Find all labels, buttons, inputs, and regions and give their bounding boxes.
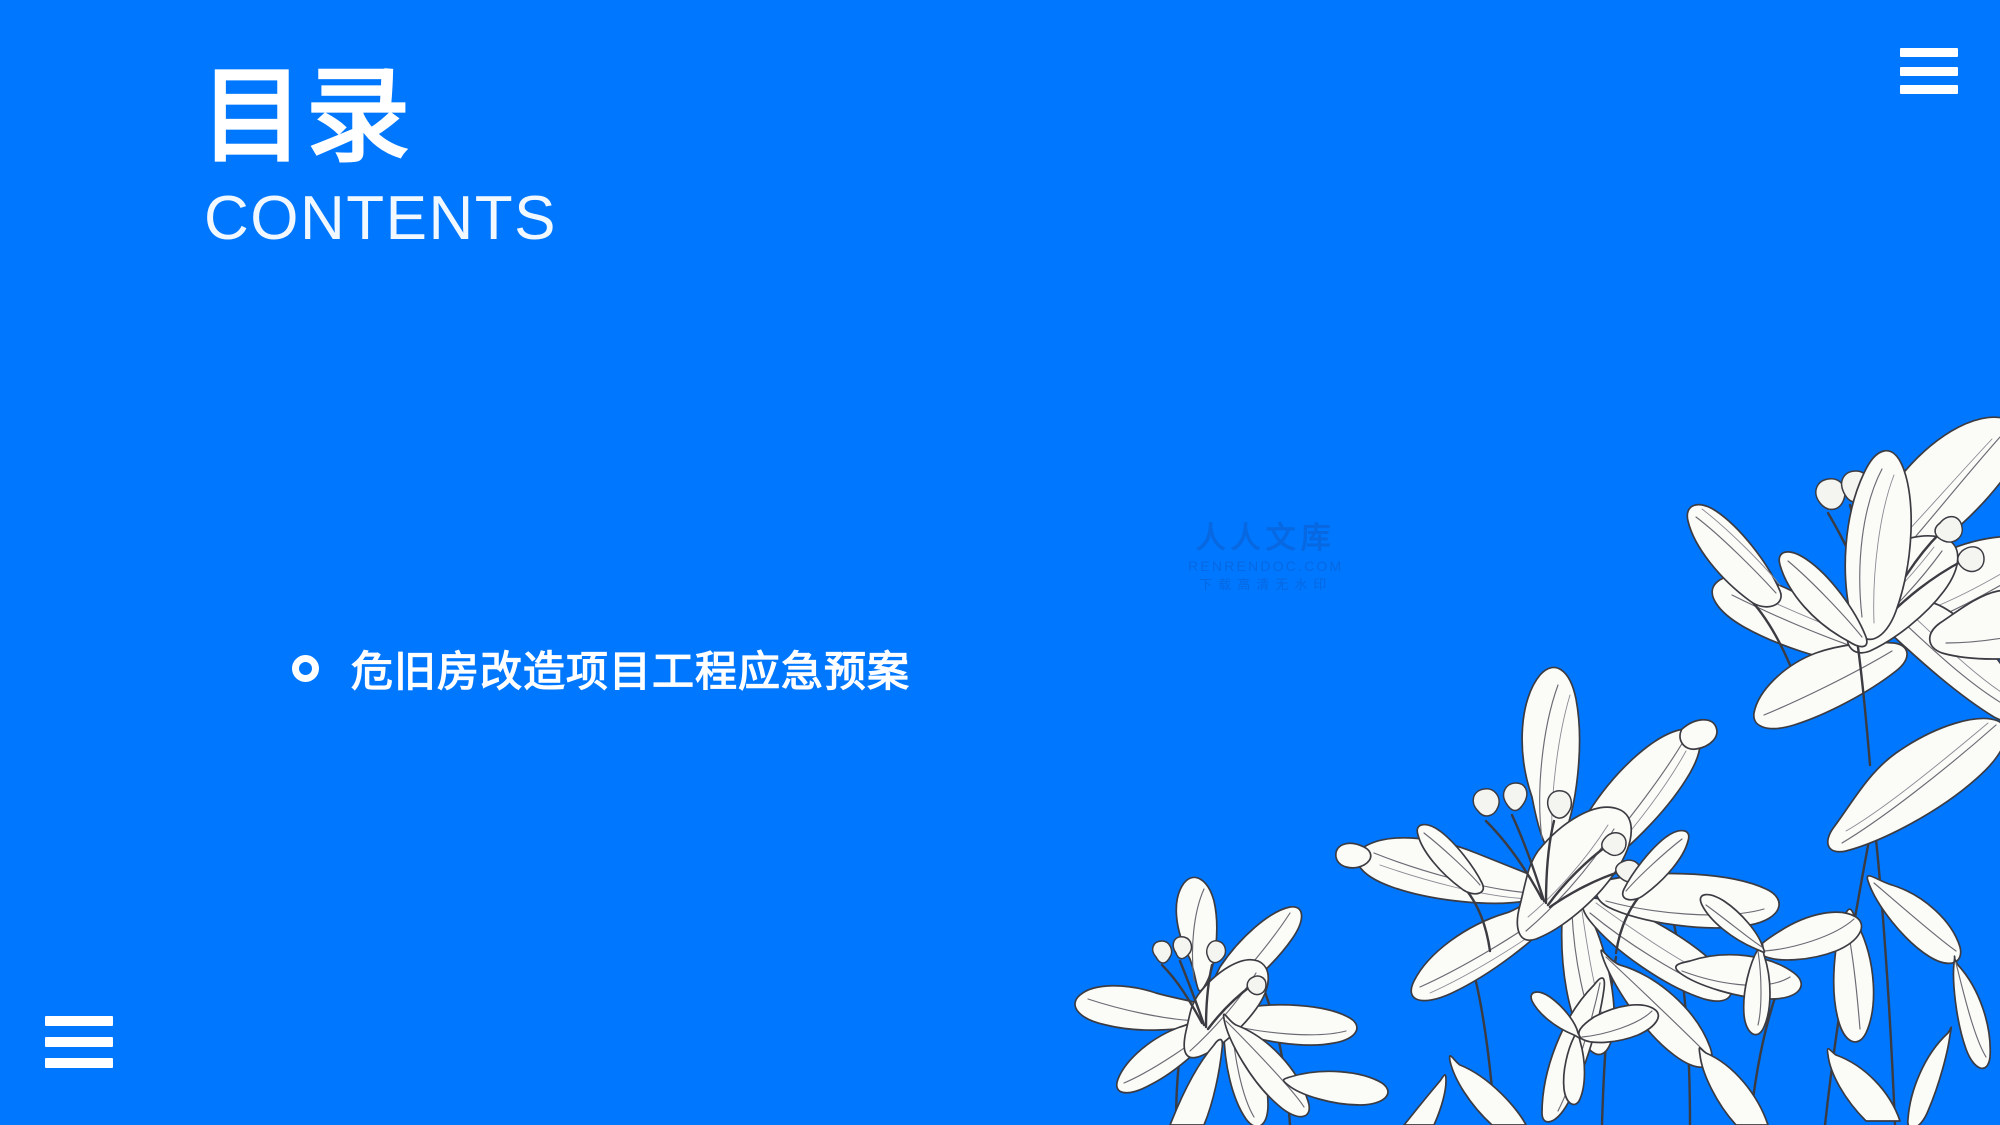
- leaf-right-lower: [1834, 876, 1961, 1042]
- hamburger-icon-top-right[interactable]: [1900, 48, 1958, 94]
- watermark-url: RENRENDOC.COM: [1188, 559, 1343, 573]
- sprig-group-right: [1700, 895, 1861, 1035]
- hamburger-icon-bottom-left[interactable]: [45, 1016, 113, 1068]
- watermark: 人人文库 RENRENDOC.COM 下载高清无水印: [1188, 524, 1343, 592]
- slide-canvas: 目录 CONTENTS 危旧房改造项目工程应急预案 人人文库 RENRENDOC…: [0, 0, 2000, 1125]
- leaf-large-right: [1828, 719, 2000, 852]
- hamburger-bar: [45, 1016, 113, 1026]
- sprig-group-far-right: [1908, 956, 1990, 1125]
- hamburger-bar: [1900, 67, 1958, 76]
- lily-bud-top: [1779, 451, 1911, 765]
- lily-flower-small-left: [1075, 877, 1357, 1125]
- watermark-subtitle: 下载高清无水印: [1188, 579, 1343, 592]
- leaf-cluster-mid-bottom: [1404, 1056, 1526, 1125]
- hamburger-bar: [1900, 85, 1958, 94]
- hamburger-bar: [1900, 48, 1958, 57]
- sprig-group-mid: [1531, 992, 1658, 1104]
- page-title-en: CONTENTS: [204, 186, 557, 251]
- page-title-block: 目录 CONTENTS: [200, 62, 557, 251]
- stamen-group: [1816, 471, 1984, 621]
- lily-flower-top-right: [1712, 417, 2000, 728]
- bud-small-group: [1417, 825, 1689, 953]
- watermark-brand-cn: 人人文库: [1188, 524, 1343, 554]
- contents-list-item[interactable]: 危旧房改造项目工程应急预案: [292, 638, 910, 699]
- hamburger-bar: [45, 1037, 113, 1047]
- stamen-group: [1153, 937, 1266, 1029]
- contents-list: 危旧房改造项目工程应急预案: [292, 638, 910, 745]
- leaf-cluster-left-bottom: [1170, 1014, 1388, 1125]
- lily-bud-mid: [1687, 505, 1790, 665]
- page-title-cn: 目录: [200, 62, 557, 170]
- ring-bullet-icon: [292, 655, 319, 682]
- contents-item-label: 危旧房改造项目工程应急预案: [351, 638, 910, 699]
- lily-line-art-illustration: .pet { fill:#fbfbf8; stroke:#3b3b42; str…: [990, 365, 2000, 1125]
- stem-group: [1176, 783, 1895, 1125]
- leaf-cluster-right-bottom: [1699, 1048, 1900, 1125]
- stamen-group: [1473, 783, 1640, 907]
- lily-flower-middle: [1336, 667, 1779, 1054]
- leaf-middle-bottom: [1542, 950, 1801, 1122]
- hamburger-bar: [45, 1058, 113, 1068]
